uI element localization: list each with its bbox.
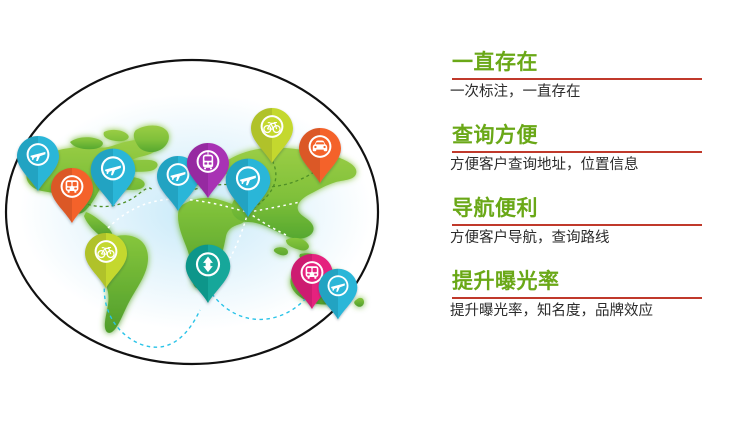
feature-heading: 查询方便 (440, 123, 740, 148)
bus-icon (66, 180, 79, 192)
bus-icon (306, 266, 319, 278)
land-new-zealand (354, 298, 364, 307)
feature-description: 一次标注，一直存在 (440, 82, 740, 102)
world-map-graphic (0, 0, 420, 441)
feature-heading: 一直存在 (440, 50, 740, 75)
feature-divider (452, 151, 702, 153)
feature-divider (452, 224, 702, 226)
feature-divider (452, 78, 702, 80)
feature-item-2: 导航便利 方便客户导航，查询路线 (440, 196, 740, 248)
feature-description: 提升曝光率，知名度，品牌效应 (440, 301, 740, 321)
feature-description: 方便客户导航，查询路线 (440, 228, 740, 248)
promo-banner: 一直存在 一次标注，一直存在 查询方便 方便客户查询地址，位置信息 导航便利 方… (0, 0, 748, 441)
world-map-panel (0, 0, 420, 441)
pin-plane-oceania[interactable] (319, 269, 358, 320)
feature-heading: 提升曝光率 (440, 269, 740, 294)
feature-item-0: 一直存在 一次标注，一直存在 (440, 50, 740, 102)
feature-list: 一直存在 一次标注，一直存在 查询方便 方便客户查询地址，位置信息 导航便利 方… (440, 50, 740, 321)
feature-divider (452, 297, 702, 299)
feature-description: 方便客户查询地址，位置信息 (440, 155, 740, 175)
feature-heading: 导航便利 (440, 196, 740, 221)
feature-item-1: 查询方便 方便客户查询地址，位置信息 (440, 123, 740, 175)
feature-item-3: 提升曝光率 提升曝光率，知名度，品牌效应 (440, 269, 740, 321)
